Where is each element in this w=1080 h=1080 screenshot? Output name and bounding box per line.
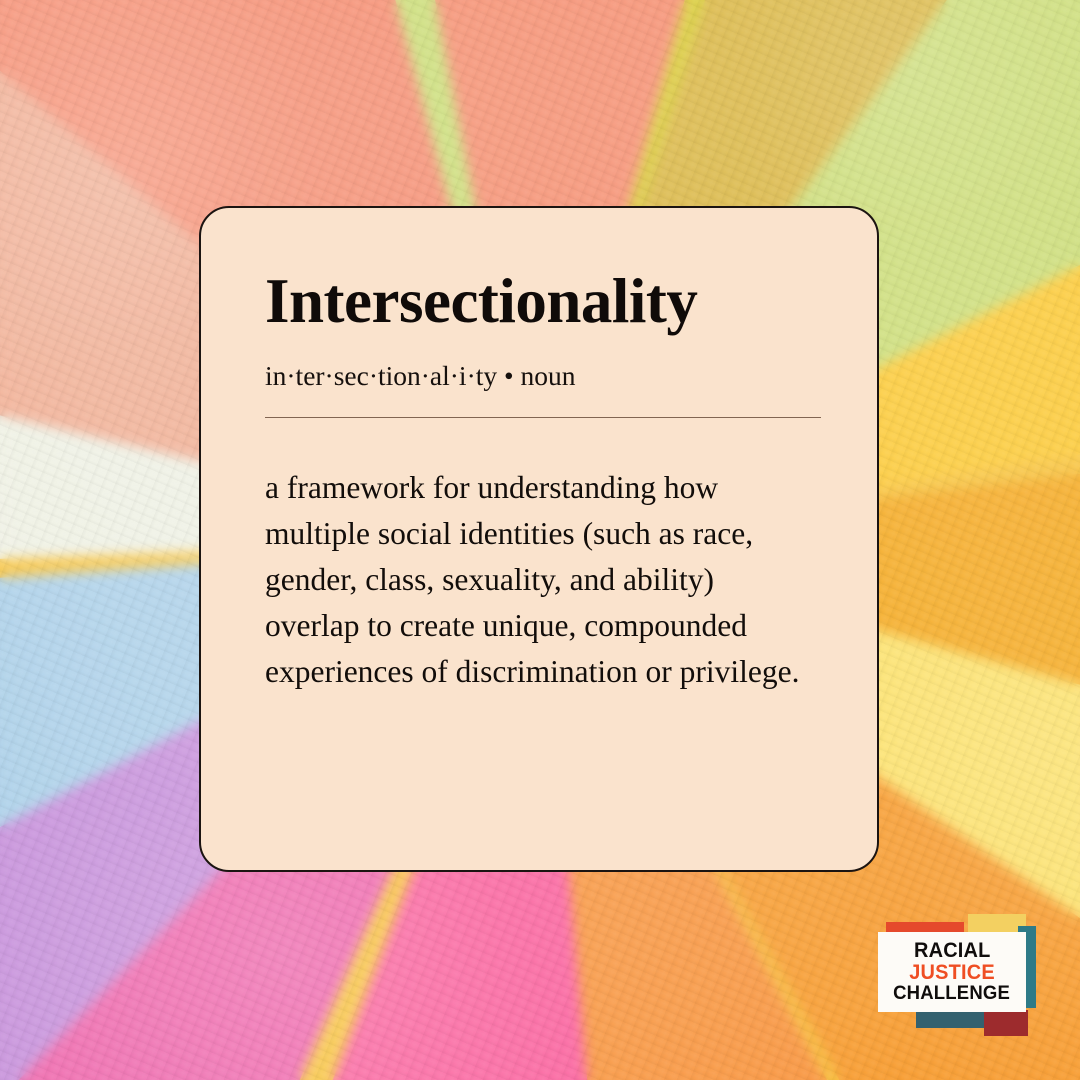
logo-line-justice: JUSTICE xyxy=(909,962,995,983)
logo-wordmark: RACIAL JUSTICE CHALLENGE xyxy=(878,932,1026,1012)
logo-dark-red-block xyxy=(984,1010,1028,1036)
divider xyxy=(265,417,821,418)
definition-text: a framework for understanding how multip… xyxy=(265,465,805,695)
pronunciation-line: in·ter·sec·tion·al·i·ty • noun xyxy=(265,361,817,391)
definition-card: Intersectionality in·ter·sec·tion·al·i·t… xyxy=(199,206,879,872)
logo-line-challenge: CHALLENGE xyxy=(894,984,1011,1004)
racial-justice-challenge-logo: RACIAL JUSTICE CHALLENGE xyxy=(872,906,1044,1036)
logo-line-racial: RACIAL xyxy=(914,940,991,961)
poster-canvas: Intersectionality in·ter·sec·tion·al·i·t… xyxy=(0,0,1080,1080)
page-title: Intersectionality xyxy=(265,270,817,333)
